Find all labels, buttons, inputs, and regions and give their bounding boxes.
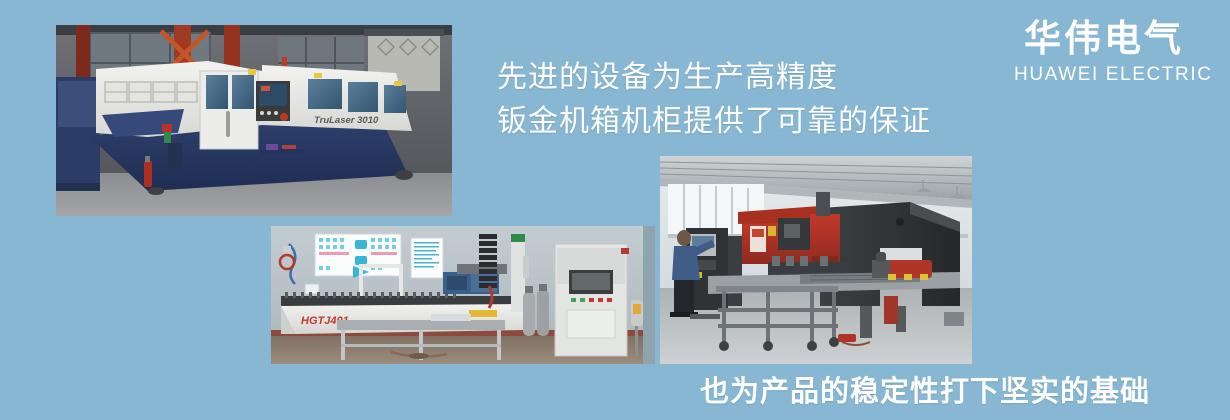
headline-text: 先进的设备为生产高精度 钣金机箱机柜提供了可靠的保证 [497,56,931,144]
logo-english-name: HUAWEI ELECTRIC [1014,64,1194,86]
photo-punch-illustration [660,156,972,364]
headline-line-2: 钣金机箱机柜提供了可靠的保证 [497,100,931,144]
photo-plasma-illustration: HGTJ401 [271,226,655,364]
logo-chinese-name: 华伟电气 [1014,18,1194,60]
photo-cnc-punch-press [660,156,972,364]
headline-line-1: 先进的设备为生产高精度 [497,56,931,100]
photo-laser-cutting-machine: TruLaser 3010 [56,25,452,216]
photo-cnc-cutting-machine: HGTJ401 [271,226,655,364]
machine-label-trulaser: TruLaser 3010 [314,115,379,126]
photo-laser-illustration: TruLaser 3010 [56,25,452,216]
tagline-text: 也为产品的稳定性打下坚实的基础 [700,373,1150,411]
company-logo: 华伟电气 HUAWEI ELECTRIC [1014,18,1194,86]
banner-root: TruLaser 3010 [0,0,1230,420]
